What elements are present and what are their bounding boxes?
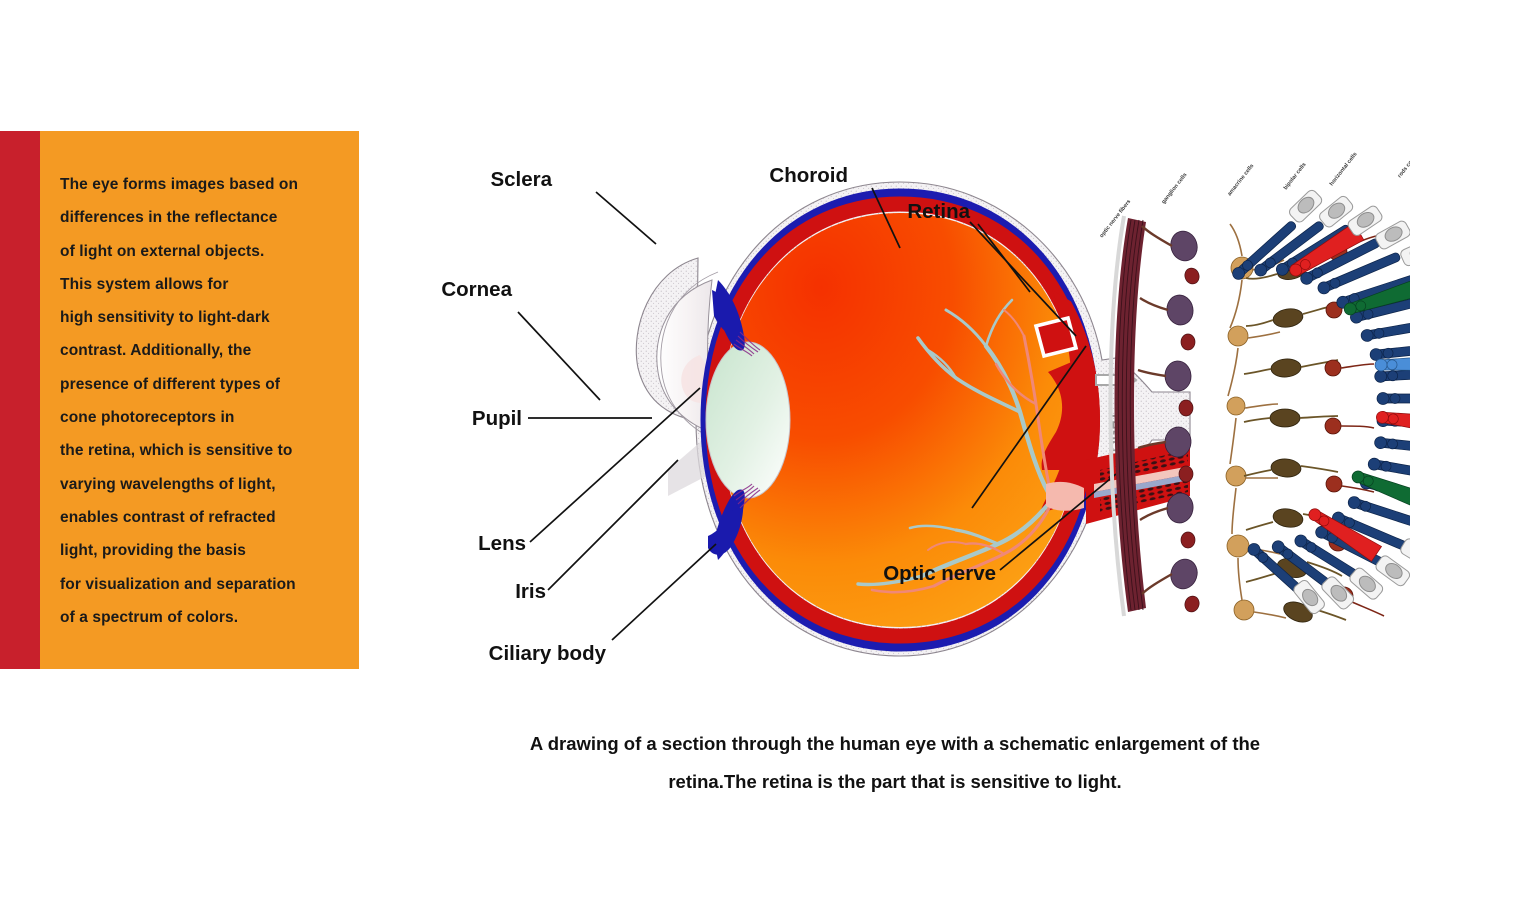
panel-line: This system allows for [60, 268, 348, 301]
photoreceptor-layer [1230, 219, 1410, 604]
label-cornea: Cornea [441, 278, 512, 301]
label-rods-cones: rods cones [1397, 152, 1410, 179]
panel-line: of a spectrum of colors. [60, 601, 348, 634]
panel-line: the retina, which is sensitive to [60, 434, 348, 467]
panel-line: light, providing the basis [60, 534, 348, 567]
optic-disc [1046, 482, 1084, 511]
panel-line: enables contrast of refracted [60, 501, 348, 534]
label-optic-nerve: Optic nerve [883, 562, 996, 585]
panel-line: of light on external objects. [60, 235, 348, 268]
label-pupil: Pupil [472, 407, 522, 430]
label-retina: Retina [907, 200, 970, 223]
panel-line: contrast. Additionally, the [60, 334, 348, 367]
panel-paragraph: The eye forms images based on difference… [60, 168, 348, 634]
panel-line: differences in the reflectance [60, 201, 348, 234]
caption-line-1: A drawing of a section through the human… [420, 725, 1370, 763]
label-amacrine-cells: amacrine cells [1227, 163, 1255, 197]
label-horizontal-cells: horizontal cells [1329, 151, 1359, 187]
slide-canvas: The eye forms images based on difference… [0, 0, 1538, 900]
eye-diagram-figure: Sclera Cornea Pupil Lens Iris Ciliary bo… [400, 140, 1410, 700]
panel-line: high sensitivity to light-dark [60, 301, 348, 334]
label-sclera: Sclera [490, 168, 552, 191]
retina-sample-box [1036, 318, 1076, 356]
label-ciliary-body: Ciliary body [489, 642, 607, 665]
label-ganglion-cells: ganglion cells [1161, 172, 1189, 205]
label-lens: Lens [478, 532, 526, 555]
panel-line: for visualization and separation [60, 568, 348, 601]
accent-bar [0, 131, 40, 669]
caption-line-2: retina.The retina is the part that is se… [420, 763, 1370, 801]
label-choroid: Choroid [769, 164, 848, 187]
label-iris: Iris [515, 580, 546, 603]
figure-caption: A drawing of a section through the human… [420, 725, 1370, 801]
panel-line: varying wavelengths of light, [60, 468, 348, 501]
lens [706, 342, 790, 498]
panel-line: presence of different types of [60, 368, 348, 401]
label-bipolar-cells: bipolar cells [1283, 162, 1308, 191]
panel-line: The eye forms images based on [60, 168, 348, 201]
panel-line: cone photoreceptors in [60, 401, 348, 434]
